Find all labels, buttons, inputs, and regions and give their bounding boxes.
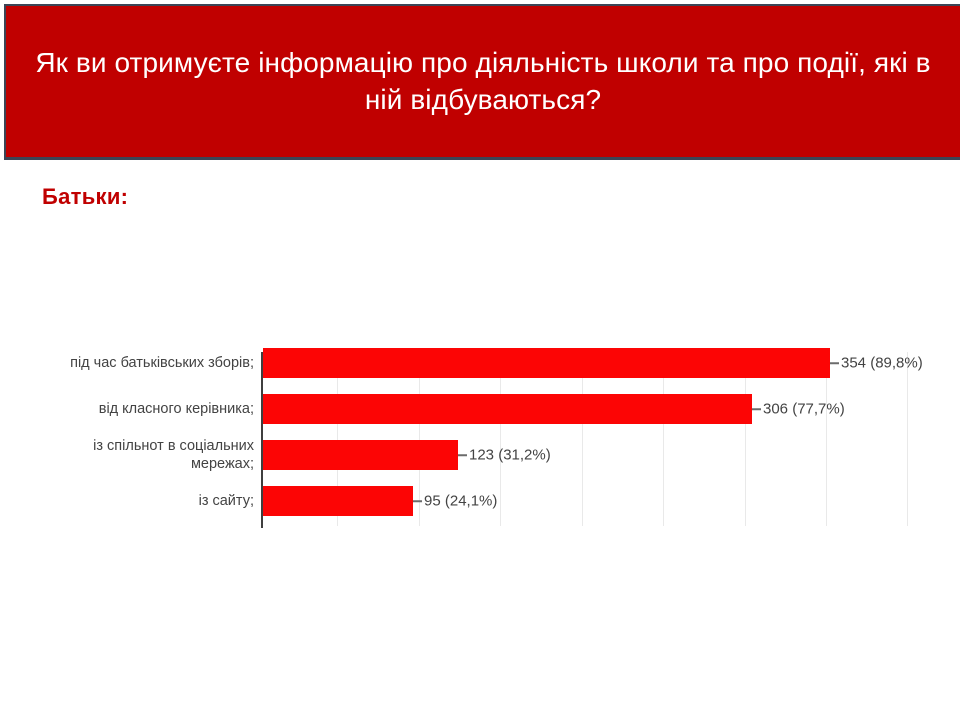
bar-value-label: 306 (77,7%) bbox=[752, 401, 845, 418]
bar-value-label: 95 (24,1%) bbox=[413, 493, 497, 510]
bar-category-label: із сайту; bbox=[24, 492, 254, 510]
bar-row: із сайту;95 (24,1%) bbox=[0, 481, 960, 521]
bar bbox=[263, 486, 413, 516]
bar-category-label: під час батьківських зборів; bbox=[24, 354, 254, 372]
bar-chart: під час батьківських зборів;354 (89,8%)в… bbox=[0, 340, 960, 540]
page-title: Як ви отримуєте інформацію про діяльніст… bbox=[33, 45, 933, 119]
bar bbox=[263, 348, 830, 378]
bar-row: із спільнот в соціальних мережах;123 (31… bbox=[0, 435, 960, 475]
bar-value-label: 123 (31,2%) bbox=[458, 447, 551, 464]
chart-plot-area: під час батьківських зборів;354 (89,8%)в… bbox=[0, 340, 960, 540]
title-banner: Як ви отримуєте інформацію про діяльніст… bbox=[4, 4, 960, 160]
bar bbox=[263, 394, 752, 424]
bar bbox=[263, 440, 458, 470]
bar-category-label: із спільнот в соціальних мережах; bbox=[24, 437, 254, 473]
bar-row: під час батьківських зборів;354 (89,8%) bbox=[0, 343, 960, 383]
section-subheading: Батьки: bbox=[42, 184, 128, 210]
bar-row: від класного керівника;306 (77,7%) bbox=[0, 389, 960, 429]
bar-category-label: від класного керівника; bbox=[24, 400, 254, 418]
bar-value-label: 354 (89,8%) bbox=[830, 355, 923, 372]
